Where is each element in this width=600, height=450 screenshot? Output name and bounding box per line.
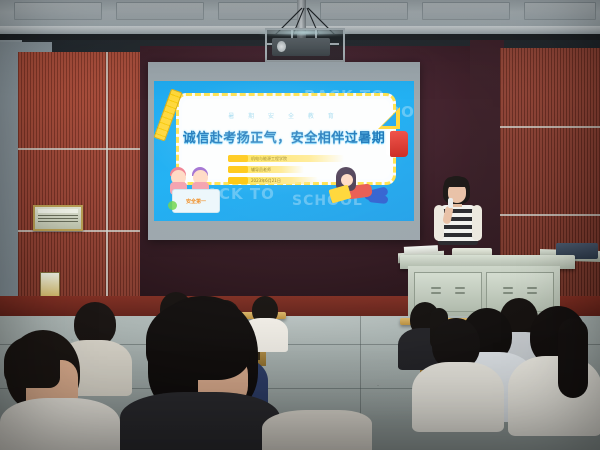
info-bar: 2023年6月21日 — [228, 177, 318, 184]
info-bar-tag — [228, 155, 248, 162]
panel-seam — [500, 214, 600, 216]
door-handle[interactable] — [527, 287, 537, 289]
placard-text-lines — [38, 215, 78, 224]
girl-reading-illustration — [330, 167, 388, 213]
student-torso — [120, 392, 280, 450]
presentation-slide: BACK TO SCHOOL BACK TO SCHOOL 暑 期 安 全 教 … — [154, 81, 414, 221]
microphone-icon — [448, 198, 453, 208]
panel-seam — [106, 52, 108, 304]
door-handle[interactable] — [431, 287, 441, 289]
student-hair — [4, 336, 60, 388]
info-bar-tag — [228, 166, 248, 173]
slide-subtitle: 暑 期 安 全 教 育 — [154, 111, 414, 120]
presenter — [432, 176, 484, 258]
panel-seam — [500, 126, 600, 128]
door-handle[interactable] — [503, 292, 513, 294]
student-hair — [146, 300, 250, 380]
door-handle[interactable] — [455, 292, 465, 294]
student-torso — [262, 410, 372, 450]
slide-info-bars: 机电与能源工程学院 辅导员老师 2023年6月21日 — [228, 155, 344, 188]
ceiling-panel — [422, 2, 510, 20]
children-illustration: 安全第一 — [168, 165, 220, 213]
door-handle[interactable] — [431, 292, 441, 294]
ceiling-panel — [116, 2, 204, 20]
info-bar-text: 机电与能源工程学院 — [251, 156, 287, 162]
girl-book — [328, 185, 351, 204]
presenter-vest — [472, 205, 482, 241]
info-bar-tag — [228, 177, 248, 184]
projection-screen: BACK TO SCHOOL BACK TO SCHOOL 暑 期 安 全 教 … — [148, 62, 420, 240]
safety-sign-text: 安全第一 — [186, 198, 206, 205]
ceiling-panel — [14, 2, 102, 20]
ceiling-panel — [524, 2, 596, 20]
wall-placard — [33, 205, 83, 231]
door-handle[interactable] — [527, 292, 537, 294]
placard-header — [38, 209, 78, 213]
green-dot-decoration — [168, 201, 177, 210]
info-bar-text: 辅导员老师 — [251, 167, 271, 173]
slide-title: 诚信赴考扬正气，安全相伴过暑期 — [154, 127, 414, 146]
student-torso — [412, 362, 504, 432]
projector-light-glow — [258, 30, 350, 35]
info-bar-text: 2023年6月21日 — [251, 178, 281, 184]
student-torso — [0, 398, 120, 450]
door-handle[interactable] — [455, 287, 465, 289]
door-handle[interactable] — [503, 287, 513, 289]
student-long-hair — [558, 318, 588, 398]
presenter-vest — [434, 205, 444, 241]
info-bar: 辅导员老师 — [228, 166, 304, 173]
classroom-photo: BACK TO SCHOOL BACK TO SCHOOL 暑 期 安 全 教 … — [0, 0, 600, 450]
girl-leg — [368, 194, 389, 204]
panel-seam — [18, 148, 140, 150]
safety-sign: 安全第一 — [172, 189, 220, 213]
wood-paneling-left — [18, 52, 140, 304]
presenter-fringe — [444, 177, 469, 187]
info-bar: 机电与能源工程学院 — [228, 155, 344, 162]
projector-lens-icon — [277, 41, 286, 52]
